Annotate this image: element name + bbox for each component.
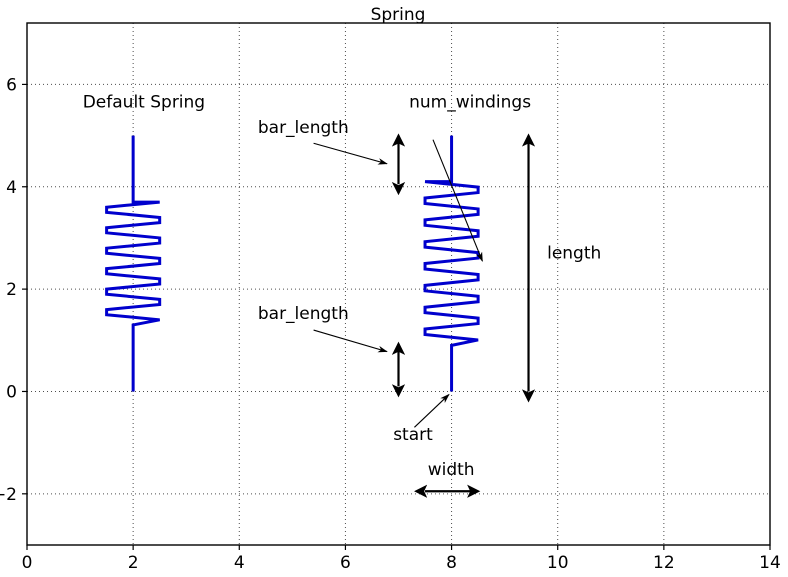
y-tick-label: 4 <box>6 178 17 198</box>
x-tick-label: 12 <box>653 553 675 573</box>
y-tick-label: 2 <box>6 280 17 300</box>
x-tick-label: 0 <box>22 553 33 573</box>
bar-length-bottom-label: bar_length <box>258 304 349 324</box>
num-windings-label: num_windings <box>409 92 531 112</box>
length-label: length <box>547 243 601 263</box>
y-tick-label: 6 <box>6 75 17 95</box>
y-tick-label: −2 <box>0 485 17 505</box>
x-tick-label: 10 <box>547 553 569 573</box>
x-tick-label: 4 <box>234 553 245 573</box>
x-tick-label: 2 <box>128 553 139 573</box>
start-label: start <box>393 425 433 445</box>
spring-plot-canvas: Spring 02468101214−20246 Default Springb… <box>0 0 788 577</box>
x-tick-label: 14 <box>759 553 781 573</box>
x-tick-label: 8 <box>446 553 457 573</box>
x-tick-label: 6 <box>340 553 351 573</box>
spring-figure: Spring 02468101214−20246 Default Springb… <box>0 0 788 577</box>
bar-length-top-label: bar_length <box>258 118 349 138</box>
default-spring-label: Default Spring <box>83 92 205 112</box>
y-tick-label: 0 <box>6 382 17 402</box>
chart-title: Spring <box>371 5 426 25</box>
width-label: width <box>428 460 475 480</box>
